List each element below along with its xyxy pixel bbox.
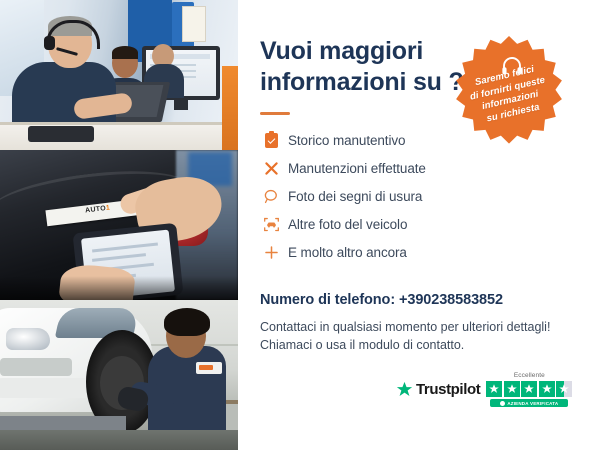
phone-label: Numero di telefono: xyxy=(260,292,395,308)
worker-2-hair xyxy=(112,46,138,59)
garage-photo xyxy=(0,300,238,450)
star-filled xyxy=(539,381,555,397)
uniform-logo xyxy=(196,362,222,374)
trustpilot-star-icon xyxy=(396,381,413,398)
feature-item-altro: E molto altro ancora xyxy=(260,240,500,265)
desk-edge xyxy=(0,122,238,125)
star-filled xyxy=(504,381,520,397)
content-panel: Vuoi maggiori informazioni su ? Saremo f… xyxy=(238,0,600,450)
checked-document-icon xyxy=(260,132,282,150)
car-grille xyxy=(0,358,72,376)
contact-line-2: Chiamaci o usa il modulo di contatto. xyxy=(260,336,570,354)
verified-badge: AZIENDA VERIFICATA xyxy=(490,399,568,407)
inspection-photo: AUTO1 xyxy=(0,150,238,300)
photo-shadow xyxy=(0,276,238,300)
star-filled xyxy=(521,381,537,397)
feature-item-storico: Storico manutentivo xyxy=(260,128,500,153)
feature-list: Storico manutentivo Manutenzioni effettu… xyxy=(260,128,500,268)
contact-line-1: Contattaci in qualsiasi momento per ulte… xyxy=(260,318,570,336)
desk-tablet xyxy=(28,126,94,142)
feature-label: Altre foto del veicolo xyxy=(282,217,407,232)
magnifier-icon xyxy=(260,188,282,206)
phone-number[interactable]: +390238583852 xyxy=(399,292,503,308)
feature-label: Manutenzioni effettuate xyxy=(282,161,426,176)
photo-column: AUTO1 xyxy=(0,0,238,450)
feature-label: Foto dei segni di usura xyxy=(282,189,422,204)
garage-floor xyxy=(0,430,238,450)
feature-label: E molto altro ancora xyxy=(282,245,407,260)
feature-item-altre-foto: Altre foto del veicolo xyxy=(260,212,500,237)
title-underline xyxy=(260,112,290,115)
trustpilot-name: Trustpilot xyxy=(416,381,480,398)
rating-label: Eccellente xyxy=(514,372,545,379)
check-circle-icon xyxy=(500,401,505,406)
car-headlight xyxy=(6,328,50,350)
phone-line: Numero di telefono: +390238583852 xyxy=(260,292,560,308)
star-half xyxy=(556,381,572,397)
orange-wall-accent xyxy=(222,66,238,150)
car-frame-icon xyxy=(260,216,282,234)
feature-item-foto-usura: Foto dei segni di usura xyxy=(260,184,500,209)
star-filled xyxy=(486,381,502,397)
star-rating xyxy=(486,381,572,397)
plus-icon xyxy=(260,244,282,262)
monitor-stand xyxy=(174,100,188,110)
mechanic-hair xyxy=(164,308,210,336)
feature-item-manutenzioni: Manutenzioni effettuate xyxy=(260,156,500,181)
feature-label: Storico manutentivo xyxy=(282,133,405,148)
car-lift xyxy=(0,416,126,430)
trustpilot-widget[interactable]: Trustpilot Eccellente AZIENDA VERIFICATA xyxy=(396,372,572,407)
contact-banner: AUTO1 xyxy=(0,0,600,450)
trustpilot-rating: Eccellente AZIENDA VERIFICATA xyxy=(486,372,572,407)
headset-earcup xyxy=(44,36,55,50)
call-center-photo xyxy=(0,0,238,150)
crossed-tools-icon xyxy=(260,160,282,178)
wall-poster xyxy=(182,6,206,42)
verified-label: AZIENDA VERIFICATA xyxy=(507,401,558,406)
trustpilot-logo: Trustpilot xyxy=(396,381,480,398)
